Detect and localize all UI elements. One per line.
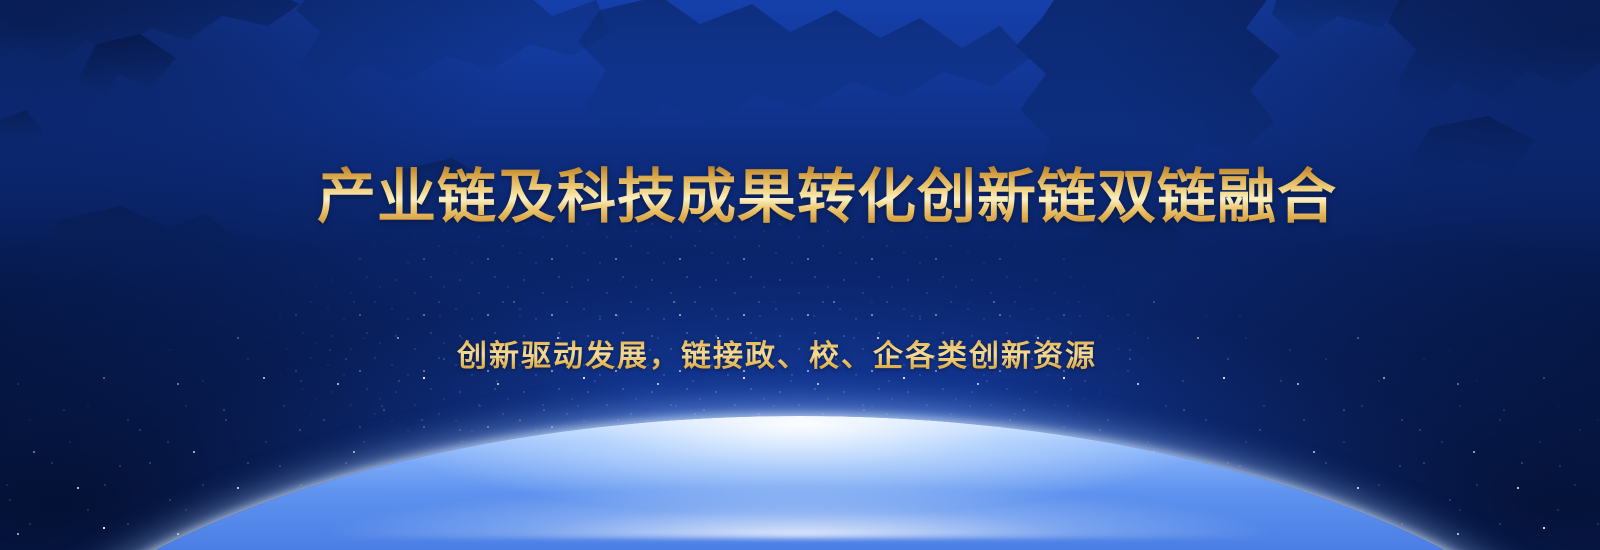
hero-banner: 产业链及科技成果转化创新链双链融合 创新驱动发展，链接政、校、企各类创新资源 xyxy=(0,0,1600,550)
banner-subheadline: 创新驱动发展，链接政、校、企各类创新资源 xyxy=(0,331,1600,375)
banner-headline: 产业链及科技成果转化创新链双链融合 xyxy=(0,166,1600,230)
